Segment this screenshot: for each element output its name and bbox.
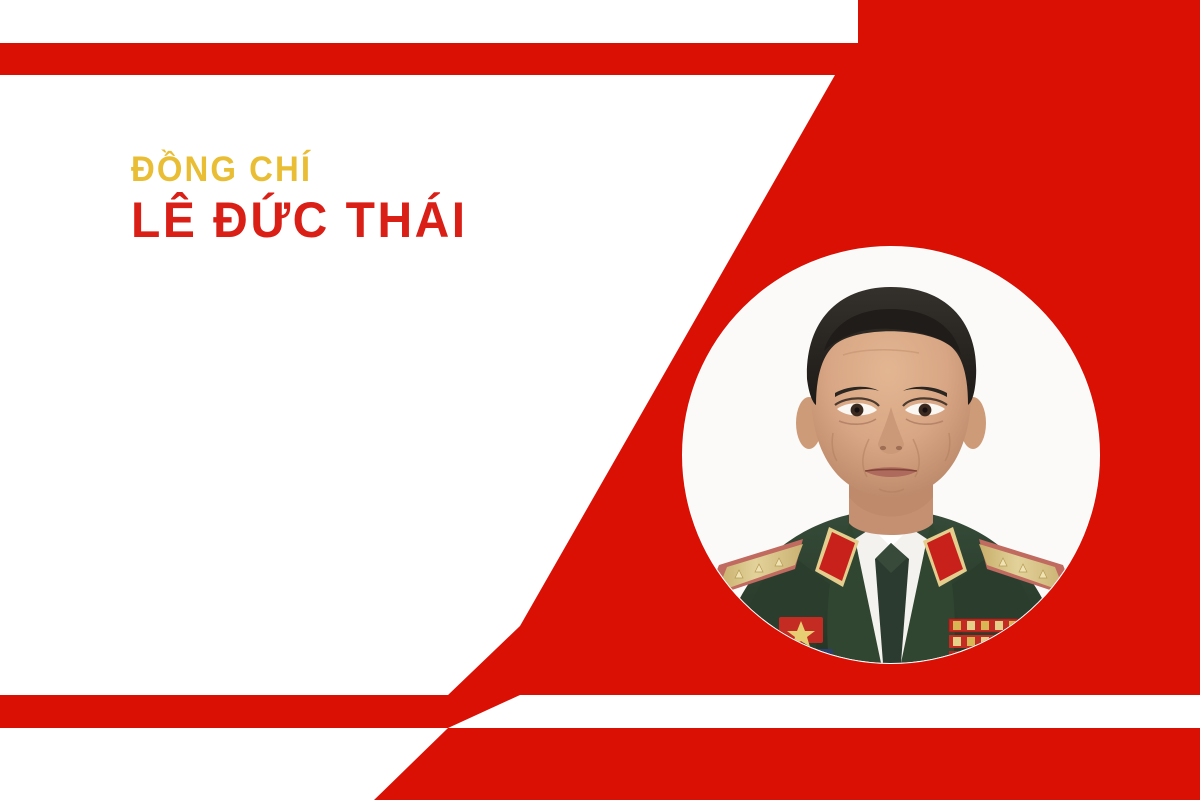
top-red-band xyxy=(0,43,858,75)
nostril-right xyxy=(896,446,902,450)
page-title: LÊ ĐỨC THÁI xyxy=(131,195,468,245)
nostril-left xyxy=(880,446,886,450)
title-block: ĐỒNG CHÍ LÊ ĐỨC THÁI xyxy=(131,152,482,245)
bottom-red-band xyxy=(0,695,520,728)
portrait-illustration: Chân dung đồng chí Lê Đức Thái mặc quân … xyxy=(683,247,1099,663)
portrait-avatar: Chân dung đồng chí Lê Đức Thái mặc quân … xyxy=(683,247,1099,663)
title-eyebrow: ĐỒNG CHÍ xyxy=(131,152,461,187)
poster-canvas: ĐỒNG CHÍ LÊ ĐỨC THÁI Chân dung đồng chí … xyxy=(0,0,1200,800)
